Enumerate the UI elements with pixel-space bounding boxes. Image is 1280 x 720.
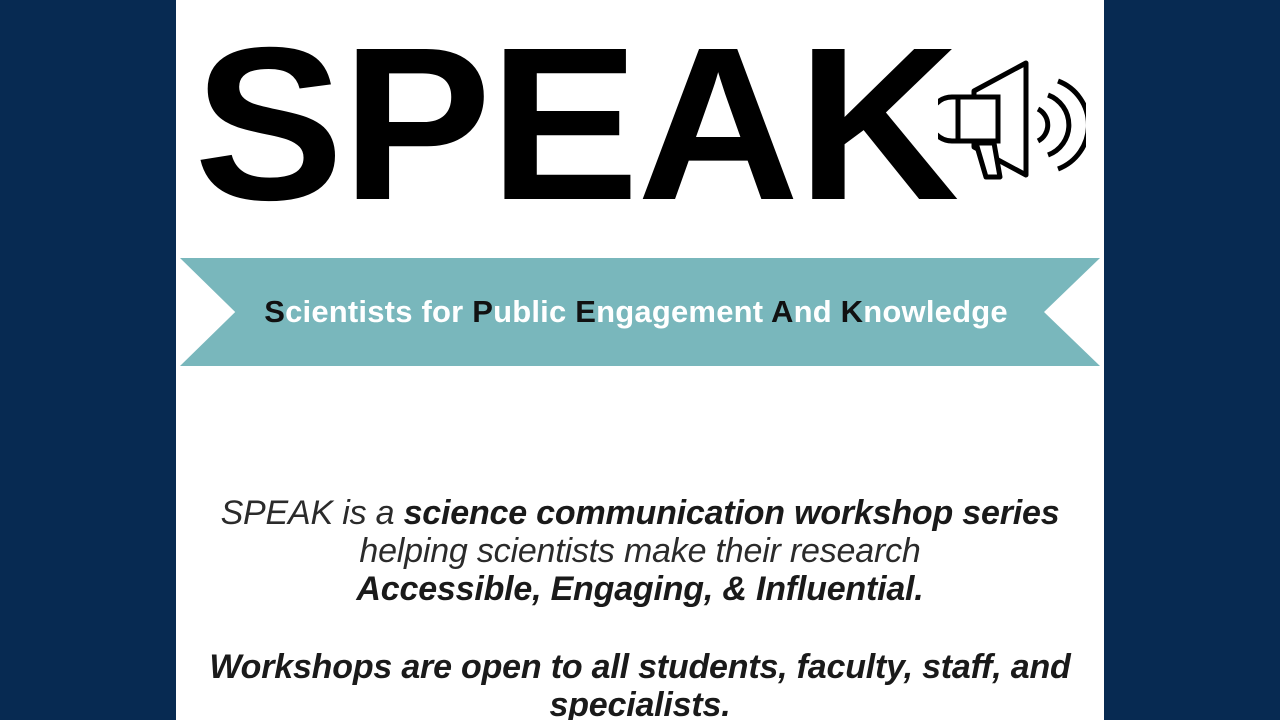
wordmark: SPEAK bbox=[176, 0, 1104, 258]
tagline-segment-2: P bbox=[472, 294, 493, 329]
poster-card: SPEAK Scienti bbox=[176, 0, 1104, 720]
tagline-segment-6: A bbox=[771, 294, 794, 329]
tagline-ribbon: Scientists for Public Engagement And Kno… bbox=[180, 258, 1100, 366]
mission-line1-bold: science communication workshop series bbox=[404, 494, 1060, 532]
tagline-text: Scientists for Public Engagement And Kno… bbox=[264, 294, 1008, 330]
tagline-segment-0: S bbox=[264, 294, 285, 329]
paragraph-mission-line-3: Accessible, Engaging, & Influential. bbox=[176, 570, 1104, 608]
tagline-segment-7: nd bbox=[794, 294, 841, 329]
body-copy: SPEAK is a science communication worksho… bbox=[176, 366, 1104, 720]
paragraph-mission: SPEAK is a science communication worksho… bbox=[176, 494, 1104, 608]
paragraph-audience-line-1: Workshops are open to all students, facu… bbox=[176, 648, 1104, 686]
tagline-segment-1: cientists for bbox=[285, 294, 472, 329]
tagline-segment-3: ublic bbox=[493, 294, 575, 329]
wordmark-text: SPEAK bbox=[194, 36, 957, 215]
tagline-segment-9: nowledge bbox=[863, 294, 1008, 329]
paragraph-mission-line-2: helping scientists make their research bbox=[176, 532, 1104, 570]
paragraph-audience-line-2: specialists. bbox=[176, 686, 1104, 720]
paragraph-mission-line-1: SPEAK is a science communication worksho… bbox=[176, 494, 1104, 532]
tagline-segment-5: ngagement bbox=[596, 294, 771, 329]
megaphone-icon bbox=[938, 49, 1086, 201]
ribbon-notch-right-icon bbox=[1044, 258, 1100, 366]
speak-poster: SPEAK Scienti bbox=[0, 0, 1280, 720]
wordmark-inner: SPEAK bbox=[194, 36, 1085, 215]
paragraph-audience: Workshops are open to all students, facu… bbox=[176, 648, 1104, 720]
tagline-segment-4: E bbox=[575, 294, 596, 329]
mission-line1-regular: SPEAK is a bbox=[221, 494, 404, 532]
tagline-segment-8: K bbox=[841, 294, 864, 329]
